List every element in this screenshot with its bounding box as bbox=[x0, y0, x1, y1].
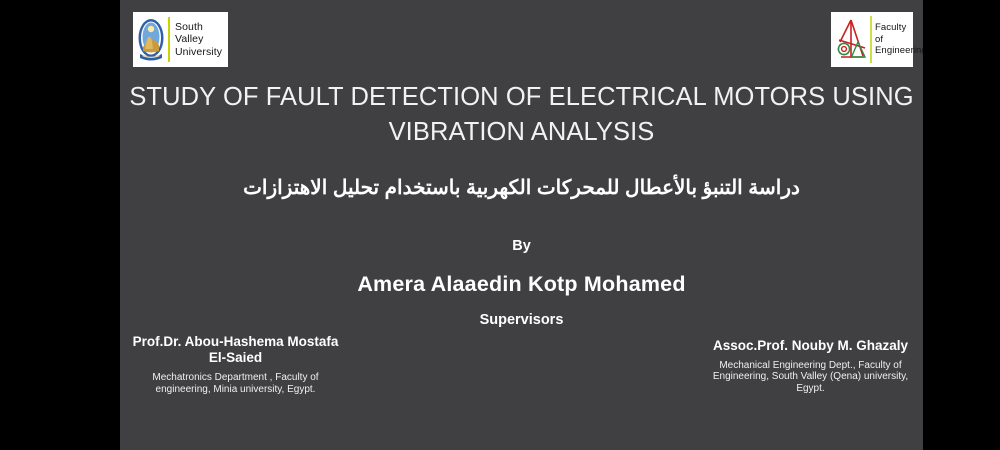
faculty-of-engineering-logo: Faculty of Engineering bbox=[831, 12, 913, 67]
logo-divider bbox=[870, 16, 872, 63]
slide-title-english-line-2: VIBRATION ANALYSIS bbox=[120, 115, 923, 150]
slide-title-english-line-1: STUDY OF FAULT DETECTION OF ELECTRICAL M… bbox=[120, 80, 923, 115]
logo-line-2: Valley bbox=[175, 33, 222, 46]
logo-line-1: Faculty bbox=[875, 22, 923, 34]
supervisors-label: Supervisors bbox=[120, 312, 923, 328]
faculty-of-engineering-emblem-icon bbox=[834, 16, 868, 64]
slide-stage: South Valley University bbox=[0, 0, 1000, 450]
faculty-of-engineering-logo-text: Faculty of Engineering bbox=[875, 22, 923, 57]
logo-line-2: of bbox=[875, 34, 923, 46]
supervisor-right-affiliation: Mechanical Engineering Dept., Faculty of… bbox=[703, 360, 918, 395]
logo-line-1: South bbox=[175, 21, 222, 34]
logo-line-3: Engineering bbox=[875, 45, 923, 57]
slide-title-english: STUDY OF FAULT DETECTION OF ELECTRICAL M… bbox=[120, 80, 923, 150]
author-name: Amera Alaaedin Kotp Mohamed bbox=[120, 272, 923, 297]
supervisor-left-name: Prof.Dr. Abou-Hashema Mostafa El-Saied bbox=[128, 334, 343, 365]
south-valley-university-logo: South Valley University bbox=[133, 12, 228, 67]
supervisor-left-affiliation: Mechatronics Department , Faculty of eng… bbox=[128, 372, 343, 395]
south-valley-university-logo-text: South Valley University bbox=[175, 21, 222, 59]
logo-divider bbox=[168, 17, 170, 62]
presentation-slide: South Valley University bbox=[120, 0, 923, 450]
logo-line-3: University bbox=[175, 46, 222, 59]
slide-title-arabic: دراسة التنبؤ بالأعطال للمحركات الكهربية … bbox=[120, 173, 923, 203]
by-label: By bbox=[120, 238, 923, 254]
supervisor-right-name: Assoc.Prof. Nouby M. Ghazaly bbox=[703, 338, 918, 354]
supervisor-right: Assoc.Prof. Nouby M. Ghazaly Mechanical … bbox=[703, 338, 918, 394]
supervisor-left: Prof.Dr. Abou-Hashema Mostafa El-Saied M… bbox=[128, 334, 343, 395]
south-valley-university-seal-icon bbox=[137, 17, 165, 63]
